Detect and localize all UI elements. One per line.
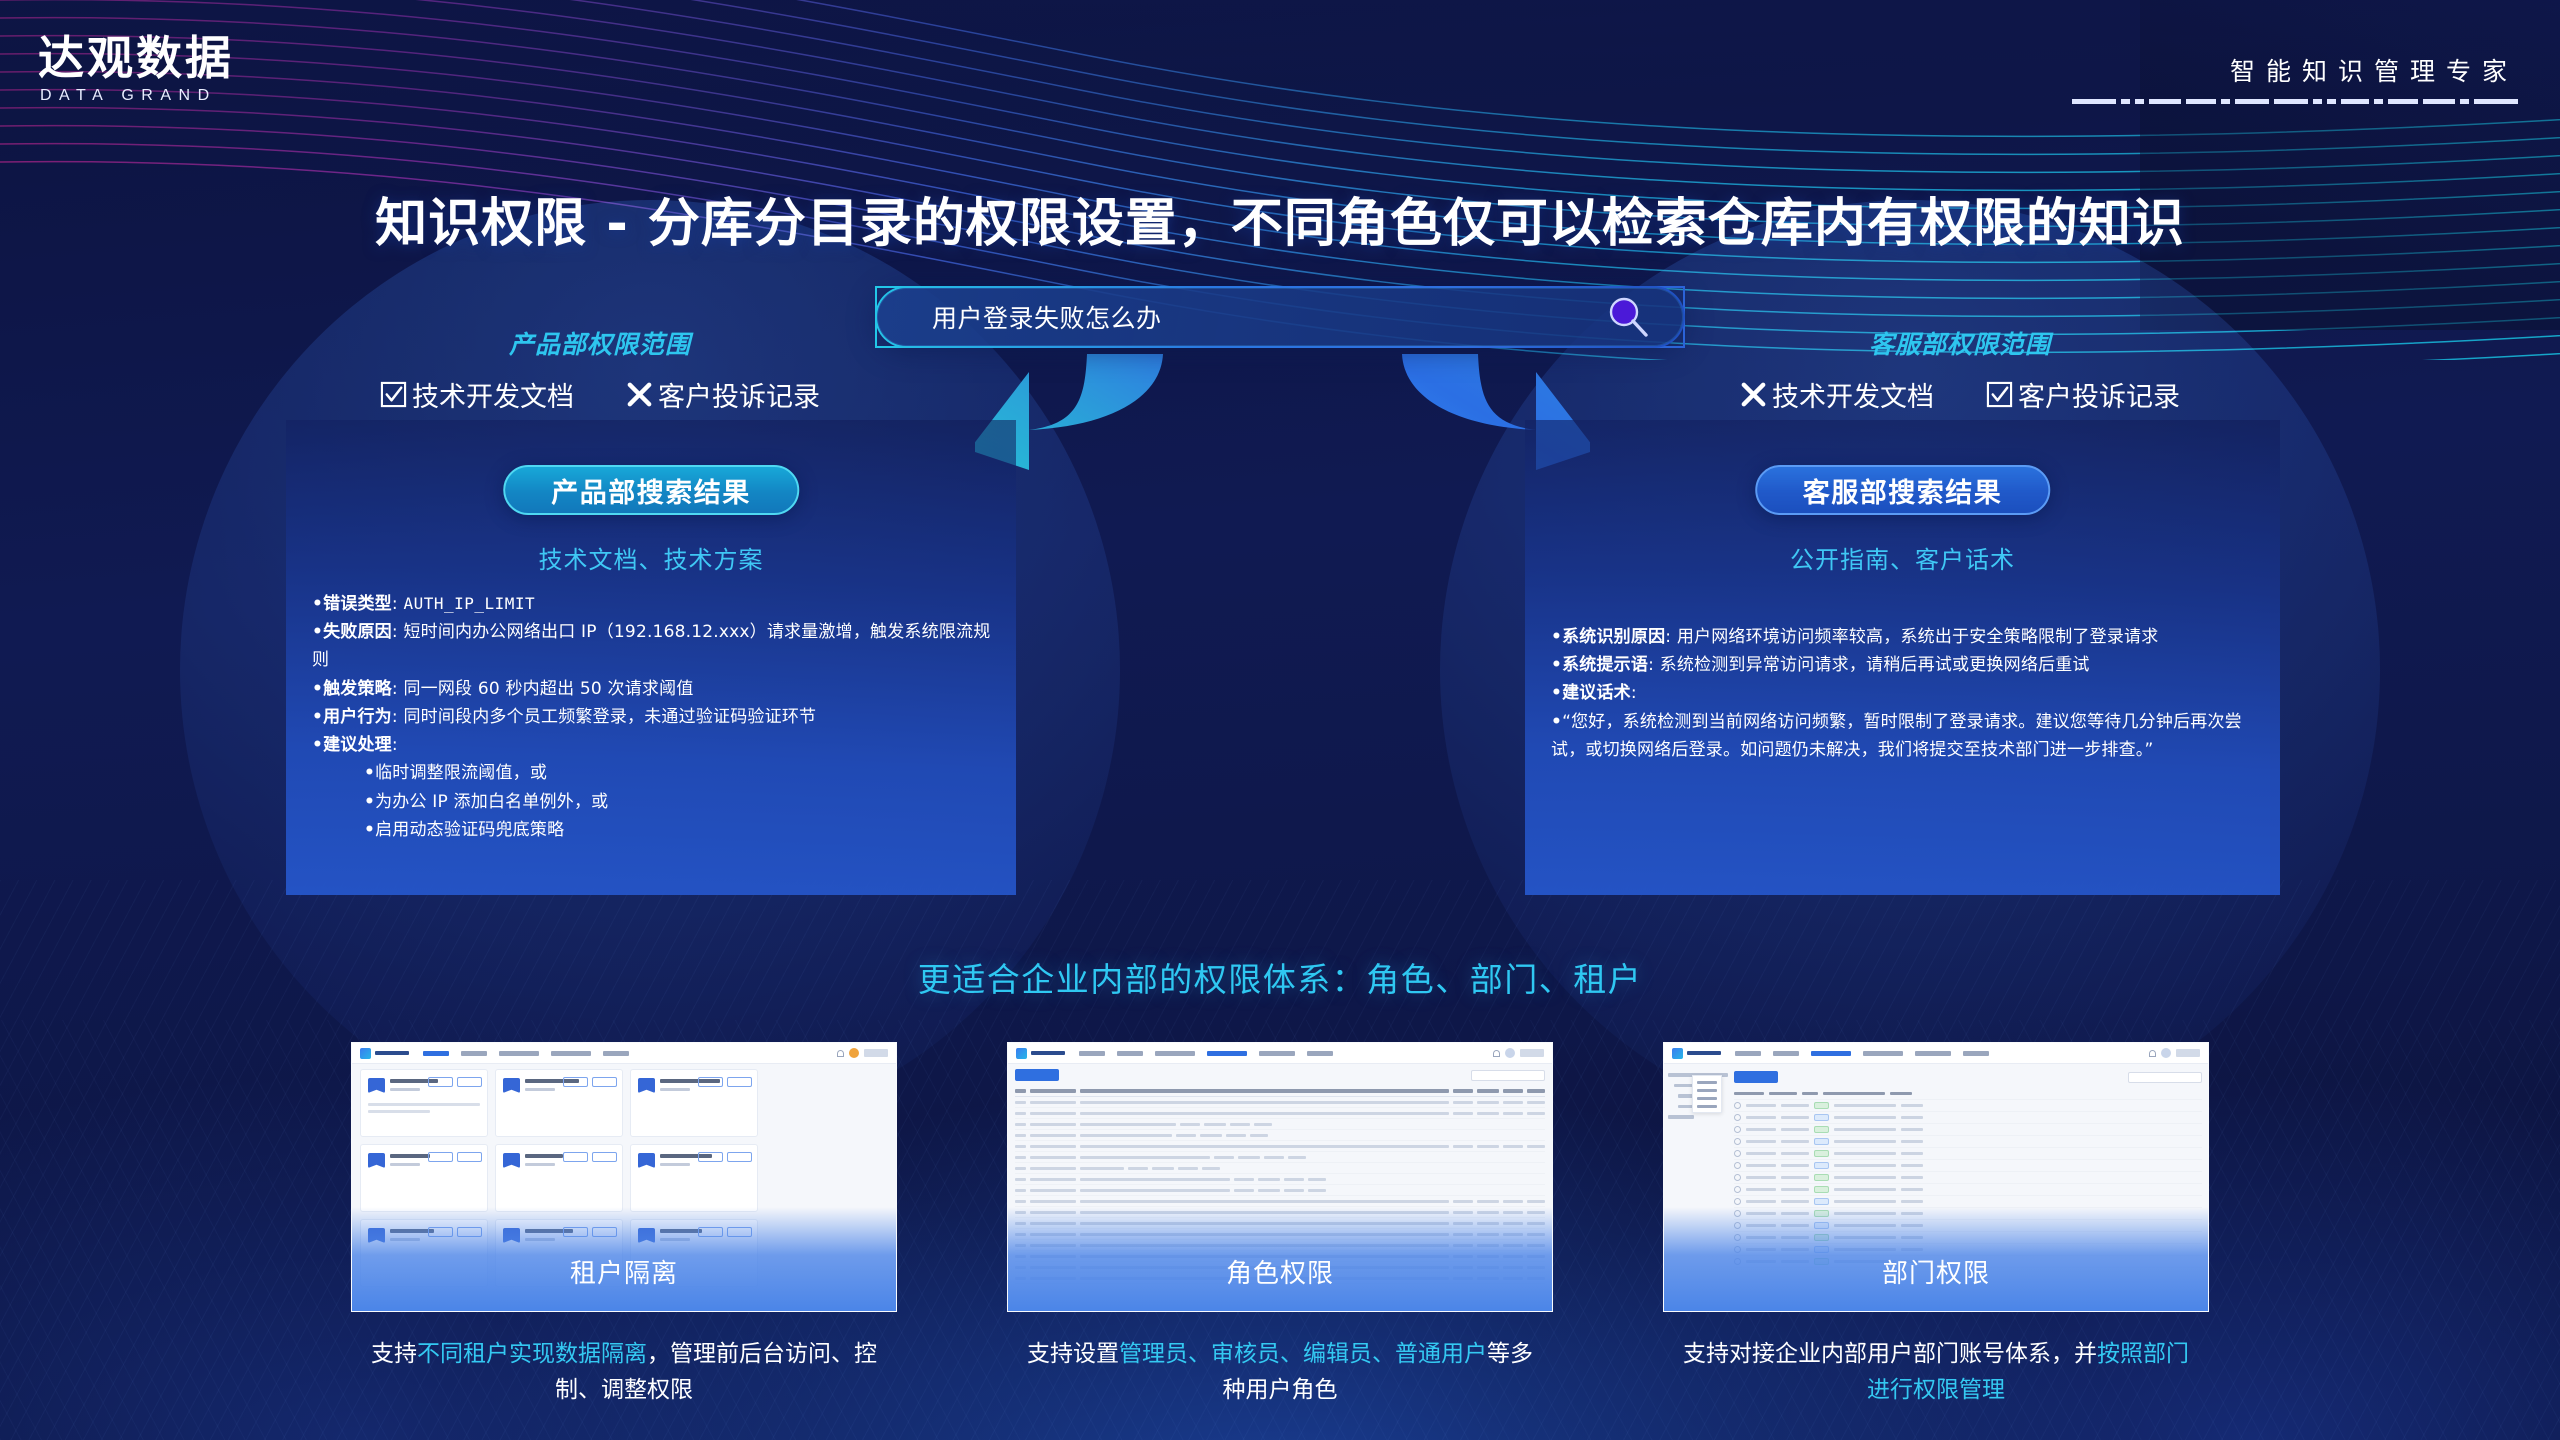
mini-user-area	[837, 1048, 888, 1058]
mini-logo-text	[375, 1051, 409, 1055]
scope-item-denied: 客户投诉记录	[626, 375, 820, 414]
book-icon	[368, 1078, 385, 1093]
bullet: •	[312, 622, 323, 642]
desc-prefix: 支持对接企业内部用户部门账号体系，并	[1683, 1341, 2097, 1367]
card-tenant-isolation[interactable]: 租户隔离 支持不同租户实现数据隔离，管理前后台访问、控制、调整权限	[351, 1042, 897, 1432]
cross-icon	[626, 381, 653, 408]
product-dept-result-panel: 产品部搜索结果 技术文档、技术方案 •错误类型: AUTH_IP_LIMIT•失…	[286, 420, 1016, 895]
table-row[interactable]	[1734, 1100, 2202, 1112]
avatar	[1734, 1198, 1741, 1205]
result-line: •“您好，系统检测到当前网络访问频繁，暂时限制了登录请求。建议您等待几分钟后再次…	[1551, 708, 2258, 764]
table-search-input[interactable]	[1471, 1070, 1545, 1081]
avatar	[1734, 1138, 1741, 1145]
result-line-sep: :	[392, 622, 404, 642]
cross-icon	[1740, 381, 1767, 408]
library-card[interactable]	[360, 1069, 488, 1137]
bullet: •	[312, 679, 323, 699]
service-dept-result-panel: 客服部搜索结果 公开指南、客户话术 •系统识别原因: 用户网络环境访问频率较高，…	[1525, 420, 2280, 895]
scope-item-label: 技术开发文档	[1772, 375, 1934, 414]
status-badge	[1814, 1102, 1829, 1109]
check-box-icon	[1986, 381, 2013, 408]
desc-prefix: 支持	[371, 1341, 417, 1367]
book-icon	[638, 1078, 655, 1093]
table-row[interactable]	[1015, 1097, 1545, 1108]
table-row[interactable]	[1734, 1184, 2202, 1196]
book-icon	[638, 1153, 655, 1168]
result-line: •触发策略: 同一网段 60 秒内超出 50 次请求阈值	[312, 675, 994, 703]
library-card[interactable]	[360, 1144, 488, 1212]
brand-name-en: DATA GRAND	[40, 87, 234, 105]
result-line-value: 系统检测到异常访问请求，请稍后再试或更换网络后重试	[1660, 655, 2090, 675]
table-row[interactable]	[1734, 1112, 2202, 1124]
mini-logo-icon	[360, 1048, 371, 1059]
brand-tagline: 智能知识管理专家	[2072, 52, 2518, 104]
table-row[interactable]	[1015, 1141, 1545, 1152]
check-box-icon	[380, 381, 407, 408]
corner-shade	[2140, 0, 2560, 330]
feature-cards: 租户隔离 支持不同租户实现数据隔离，管理前后台访问、控制、调整权限	[0, 1042, 2560, 1432]
table-row[interactable]	[1734, 1136, 2202, 1148]
add-role-button[interactable]	[1015, 1069, 1059, 1081]
scope-item-denied: 技术开发文档	[1740, 375, 1934, 414]
result-line: •建议处理:	[312, 731, 994, 759]
desc-highlight: 管理员、审核员、编辑员、普通用户	[1119, 1341, 1487, 1367]
table-toolbar	[1015, 1069, 1545, 1081]
brand-tagline-text: 智能知识管理专家	[2072, 52, 2518, 88]
mini-logo-text	[1687, 1051, 1721, 1055]
library-card[interactable]	[630, 1069, 758, 1137]
avatar	[1734, 1162, 1741, 1169]
bell-icon	[837, 1050, 844, 1057]
scope-item-label: 客户投诉记录	[2018, 375, 2180, 414]
table-row[interactable]	[1734, 1160, 2202, 1172]
result-line-value: 短时间内办公网络出口 IP（192.168.12.xxx）请求量激增，触发系统限…	[312, 622, 990, 670]
section-heading-permissions: 更适合企业内部的权限体系：角色、部门、租户	[0, 953, 2560, 1001]
screenshot-role-table: 角色权限	[1007, 1042, 1553, 1312]
scope-title: 客服部权限范围	[1620, 325, 2300, 361]
scope-service-dept: 客服部权限范围 技术开发文档 客户投诉记录	[1620, 325, 2300, 414]
card-caption: 租户隔离	[352, 1253, 896, 1290]
status-badge	[1814, 1198, 1829, 1205]
avatar	[1505, 1048, 1515, 1058]
desc-prefix: 支持设置	[1027, 1341, 1119, 1367]
mini-app-header	[1008, 1043, 1552, 1064]
bullet: •	[364, 820, 375, 840]
card-role-permission[interactable]: 角色权限 支持设置管理员、审核员、编辑员、普通用户等多种用户角色	[1007, 1042, 1553, 1432]
mini-logo-icon	[1672, 1048, 1683, 1059]
bullet: •	[364, 792, 375, 812]
service-result-subtitle: 公开指南、客户话术	[1525, 540, 2280, 575]
result-line-sep: :	[1665, 627, 1677, 647]
avatar	[1734, 1174, 1741, 1181]
scope-item-label: 技术开发文档	[412, 375, 574, 414]
screenshot-user-table: 部门权限	[1663, 1042, 2209, 1312]
status-badge	[1814, 1138, 1829, 1145]
result-line: •用户行为: 同时间段内多个员工频繁登录，未通过验证码验证环节	[312, 703, 994, 731]
tagline-dash-rule	[2072, 99, 2518, 104]
result-line-sep: :	[1648, 655, 1660, 675]
result-line-label: 建议话术	[1562, 683, 1631, 703]
mini-user-area	[1493, 1048, 1544, 1058]
bullet: •	[312, 735, 323, 755]
table-row[interactable]	[1015, 1163, 1545, 1174]
result-line-value: AUTH_IP_LIMIT	[403, 594, 535, 613]
table-row[interactable]	[1734, 1124, 2202, 1136]
search-icon[interactable]	[1606, 295, 1650, 339]
result-line-label: 触发策略	[323, 679, 392, 699]
result-line-sep: :	[392, 707, 404, 727]
add-user-button[interactable]	[1734, 1071, 1778, 1083]
service-result-pill: 客服部搜索结果	[1755, 465, 2051, 515]
context-menu[interactable]	[1692, 1075, 1722, 1113]
library-card[interactable]	[630, 1144, 758, 1212]
bell-icon	[2149, 1050, 2156, 1057]
table-header-row	[1734, 1088, 2202, 1100]
result-line: •系统提示语: 系统检测到异常访问请求，请稍后再试或更换网络后重试	[1551, 651, 2258, 679]
result-line: •建议话术:	[1551, 679, 2258, 707]
result-line-sep: :	[392, 679, 404, 699]
result-line-label: 错误类型	[323, 594, 392, 614]
result-line-value: 启用动态验证码兜底策略	[375, 820, 564, 840]
result-line-value: “您好，系统检测到当前网络访问频繁，暂时限制了登录请求。建议您等待几分钟后再次尝…	[1551, 712, 2242, 760]
scope-item-label: 客户投诉记录	[658, 375, 820, 414]
product-result-body: •错误类型: AUTH_IP_LIMIT•失败原因: 短时间内办公网络出口 IP…	[312, 590, 994, 844]
card-description: 支持对接企业内部用户部门账号体系，并按照部门进行权限管理	[1663, 1337, 2209, 1408]
mini-nav	[423, 1051, 837, 1056]
result-line-sep: :	[392, 735, 398, 755]
avatar	[1734, 1186, 1741, 1193]
scope-items: 技术开发文档 客户投诉记录	[260, 375, 940, 414]
page-title: 知识权限 - 分库分目录的权限设置，不同角色仅可以检索仓库内有权限的知识	[0, 181, 2560, 256]
status-badge	[1814, 1126, 1829, 1133]
mini-app-header	[1664, 1043, 2208, 1064]
card-department-permission[interactable]: 部门权限 支持对接企业内部用户部门账号体系，并按照部门进行权限管理	[1663, 1042, 2209, 1432]
result-line: •失败原因: 短时间内办公网络出口 IP（192.168.12.xxx）请求量激…	[312, 618, 994, 674]
scope-item-allowed: 客户投诉记录	[1986, 375, 2180, 414]
service-result-body: •系统识别原因: 用户网络环境访问频率较高，系统出于安全策略限制了登录请求•系统…	[1551, 623, 2258, 764]
avatar	[1734, 1102, 1741, 1109]
table-toolbar	[1734, 1071, 2202, 1083]
result-line-label: 建议处理	[323, 735, 392, 755]
table-header-row	[1015, 1086, 1545, 1097]
table-row[interactable]	[1015, 1108, 1545, 1119]
user-name	[1520, 1049, 1544, 1057]
avatar	[1734, 1114, 1741, 1121]
card-description: 支持不同租户实现数据隔离，管理前后台访问、控制、调整权限	[351, 1337, 897, 1408]
desc-highlight: 不同租户实现数据隔离	[417, 1341, 647, 1367]
result-line-label: 系统提示语	[1562, 655, 1648, 675]
table-row[interactable]	[1734, 1148, 2202, 1160]
result-line-value: 同一网段 60 秒内超出 50 次请求阈值	[403, 679, 693, 699]
result-line: •错误类型: AUTH_IP_LIMIT	[312, 590, 994, 618]
table-row[interactable]	[1015, 1119, 1545, 1130]
avatar	[1734, 1126, 1741, 1133]
book-icon	[503, 1078, 520, 1093]
mini-user-area	[2149, 1048, 2200, 1058]
result-line-value: 用户网络环境访问频率较高，系统出于安全策略限制了登录请求	[1677, 627, 2159, 647]
scope-product-dept: 产品部权限范围 技术开发文档 客户投诉记录	[260, 325, 940, 414]
scope-item-allowed: 技术开发文档	[380, 375, 574, 414]
mini-logo-text	[1031, 1051, 1065, 1055]
card-caption: 角色权限	[1008, 1253, 1552, 1290]
avatar	[2161, 1048, 2171, 1058]
result-line-label: 系统识别原因	[1562, 627, 1665, 647]
product-result-pill: 产品部搜索结果	[503, 465, 799, 515]
bullet: •	[1551, 655, 1562, 675]
status-badge	[1814, 1150, 1829, 1157]
table-row[interactable]	[1734, 1172, 2202, 1184]
result-sub-line: •为办公 IP 添加白名单例外，或	[312, 788, 994, 816]
library-card[interactable]	[495, 1144, 623, 1212]
result-sub-line: •临时调整限流阈值，或	[312, 759, 994, 787]
user-name	[864, 1049, 888, 1057]
bullet: •	[364, 763, 375, 783]
product-result-subtitle: 技术文档、技术方案	[286, 540, 1016, 575]
mini-logo-icon	[1016, 1048, 1027, 1059]
status-badge	[1814, 1186, 1829, 1193]
table-row[interactable]	[1015, 1152, 1545, 1163]
result-line-value: 临时调整限流阈值，或	[375, 763, 547, 783]
library-card[interactable]	[495, 1069, 623, 1137]
mini-nav	[1735, 1051, 2149, 1056]
table-row[interactable]	[1015, 1174, 1545, 1185]
screenshot-card-grid: 租户隔离	[351, 1042, 897, 1312]
bullet: •	[312, 594, 323, 614]
bullet: •	[1551, 627, 1562, 647]
user-name	[2176, 1049, 2200, 1057]
result-line-sep: :	[1631, 683, 1637, 703]
result-sub-line: •启用动态验证码兜底策略	[312, 816, 994, 844]
result-line-label: 失败原因	[323, 622, 392, 642]
result-line-value: 同时间段内多个员工频繁登录，未通过验证码验证环节	[403, 707, 816, 727]
card-description: 支持设置管理员、审核员、编辑员、普通用户等多种用户角色	[1007, 1337, 1553, 1408]
table-search-input[interactable]	[2128, 1072, 2202, 1083]
mini-nav	[1079, 1051, 1493, 1056]
bell-icon	[1493, 1050, 1500, 1057]
status-badge	[1814, 1174, 1829, 1181]
result-line-label: 用户行为	[323, 707, 392, 727]
scope-title: 产品部权限范围	[260, 325, 940, 361]
book-icon	[503, 1153, 520, 1168]
bullet: •	[1551, 712, 1562, 732]
table-row[interactable]	[1015, 1196, 1545, 1207]
table-row[interactable]	[1015, 1130, 1545, 1141]
table-row[interactable]	[1015, 1185, 1545, 1196]
search-input[interactable]: 用户登录失败怎么办	[932, 299, 1162, 335]
avatar	[1734, 1150, 1741, 1157]
status-badge	[1814, 1114, 1829, 1121]
result-line-value: 为办公 IP 添加白名单例外，或	[375, 792, 608, 812]
mini-app-header	[352, 1043, 896, 1064]
brand-logo: 达观数据 DATA GRAND	[38, 34, 234, 105]
status-badge	[1814, 1162, 1829, 1169]
search-bar[interactable]: 用户登录失败怎么办	[875, 286, 1685, 348]
result-line-sep: :	[392, 594, 404, 614]
brand-name-cn: 达观数据	[38, 34, 234, 82]
avatar	[849, 1048, 859, 1058]
bullet: •	[312, 707, 323, 727]
card-caption: 部门权限	[1664, 1253, 2208, 1290]
result-line: •系统识别原因: 用户网络环境访问频率较高，系统出于安全策略限制了登录请求	[1551, 623, 2258, 651]
book-icon	[368, 1153, 385, 1168]
scope-items: 技术开发文档 客户投诉记录	[1620, 375, 2300, 414]
bullet: •	[1551, 683, 1562, 703]
